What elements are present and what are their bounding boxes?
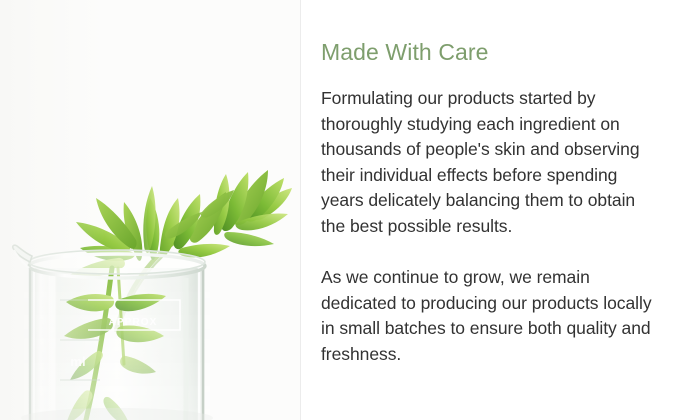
page-title: Made With Care <box>321 38 655 66</box>
made-with-care-banner: APPROX ml Made With Care Formulating our… <box>0 0 679 420</box>
panel-divider <box>300 0 301 420</box>
body-paragraph-2: As we continue to grow, we remain dedica… <box>321 265 655 367</box>
glass-beaker: APPROX ml <box>13 245 214 420</box>
product-photo-panel: APPROX ml <box>0 0 300 420</box>
beaker-approx-text: APPROX <box>109 317 158 328</box>
beaker-unit-text: ml <box>70 354 85 369</box>
beaker-with-stevia-image: APPROX ml <box>0 0 300 420</box>
body-paragraph-1: Formulating our products started by thor… <box>321 86 655 239</box>
copy-panel: Made With Care Formulating our products … <box>300 0 679 420</box>
